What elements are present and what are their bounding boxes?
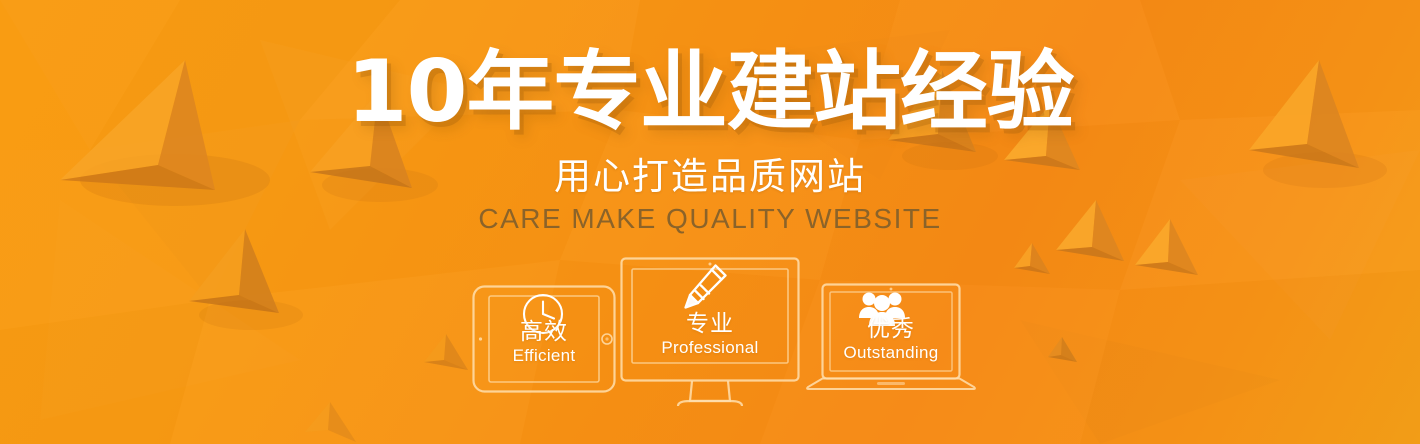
people-group-icon [858, 290, 906, 335]
promo-banner: 10年专业建站经验 用心打造品质网站 CARE MAKE QUALITY WEB… [0, 0, 1420, 444]
pencil-icon [678, 261, 730, 318]
clock-icon [520, 291, 566, 342]
banner-headline: 10年专业建站经验 [0, 46, 1420, 138]
banner-subtitle-en: CARE MAKE QUALITY WEBSITE [0, 203, 1420, 235]
banner-subtitle-cn: 用心打造品质网站 [0, 155, 1420, 199]
feature-devices-row: 高效 Efficient [0, 255, 1420, 415]
